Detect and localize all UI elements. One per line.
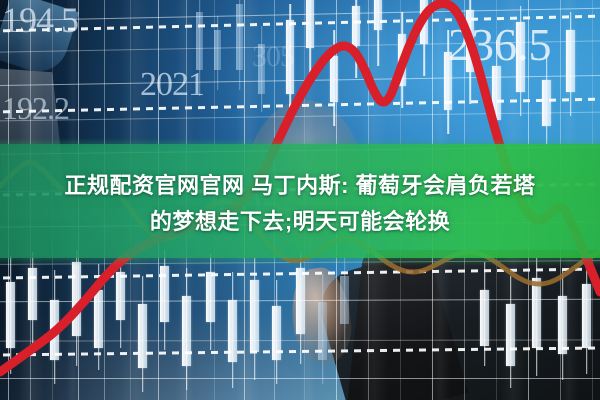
headline-line-2: 的梦想走下去;明天可能会轮换 xyxy=(14,204,586,240)
headline-line-1: 正规配资官网官网 马丁内斯: 葡萄牙会肩负若塔 xyxy=(14,168,586,204)
headline-text: 正规配资官网官网 马丁内斯: 葡萄牙会肩负若塔 的梦想走下去;明天可能会轮换 xyxy=(0,168,600,240)
screenshot-root: 194.5 192.2 2021 236.5 2005 305 正规配资官网官网… xyxy=(0,0,600,400)
